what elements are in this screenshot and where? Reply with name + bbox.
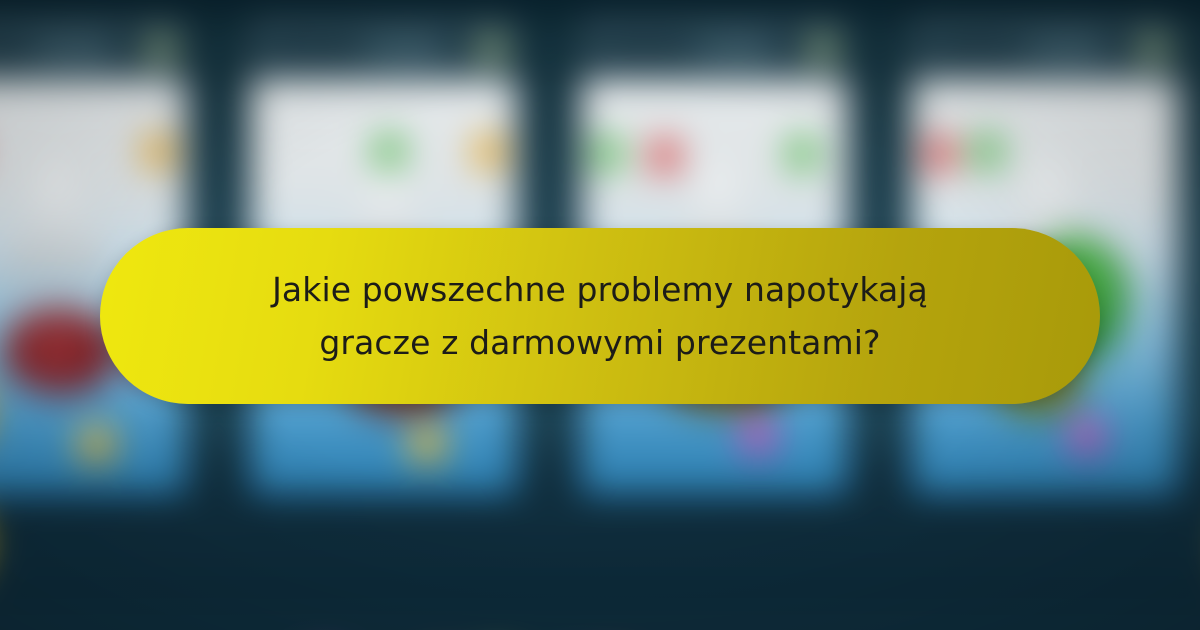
card-badge-icon [594,138,622,170]
card-header-icon [447,34,470,62]
card-badge-icon [475,136,503,168]
card-title-pill [0,38,32,61]
gem-icon [1141,36,1166,61]
card-mountain-shape [0,157,117,284]
card-subtitle-pill [706,40,774,57]
gem-icon [148,36,173,61]
gem-icon [810,36,835,61]
coin-icon [78,426,114,462]
card-badge-icon [973,136,1001,168]
card-header-icon [778,34,801,62]
card-header-icon [117,34,140,62]
gem-icon [1071,418,1103,454]
card-header [0,21,187,78]
question-banner: Jakie powszechne problemy napotykają gra… [100,228,1100,404]
card-badge-icon [926,138,954,170]
card-subtitle-pill [375,40,443,57]
game-top-bar [0,0,1200,19]
coin-icon [409,426,445,462]
card-header-icon [1109,34,1132,62]
card-header [581,21,848,78]
card-title-pill [596,38,694,61]
card-badge-icon [144,136,172,168]
card-badge-icon [789,138,817,170]
game-bottom-nav-bar [0,623,1200,630]
banner-stage: Jakie powszechne problemy napotykają gra… [0,0,1200,630]
banner-question-text: Jakie powszechne problemy napotykają gra… [180,263,1020,370]
card-subtitle-pill [45,40,113,57]
card-header [912,21,1179,78]
card-badge-icon [375,136,403,168]
gem-icon [479,36,504,61]
card-title-pill [926,38,1024,61]
gem-icon [742,418,774,454]
card-badge-icon [651,140,679,172]
card-subtitle-pill [1037,40,1105,57]
card-title-pill [265,38,363,61]
card-header [250,21,517,78]
